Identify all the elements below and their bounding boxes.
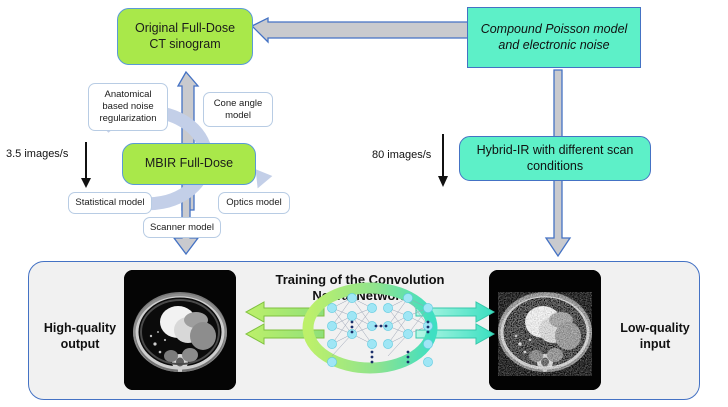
high-quality-output-label: High-quality output bbox=[30, 320, 130, 353]
label-anatomical-noise-regularization[interactable]: Anatomical based noise regularization bbox=[88, 83, 168, 131]
label-cone-angle-model[interactable]: Cone angle model bbox=[203, 92, 273, 127]
cnn-network bbox=[332, 298, 428, 356]
label-scanner-text: Scanner model bbox=[150, 222, 214, 234]
rate-arrow-hybrid bbox=[438, 134, 448, 187]
node-hybrid-ir-label: Hybrid-IR with different scan conditions bbox=[469, 143, 641, 174]
ct-image-low-quality bbox=[489, 270, 601, 390]
node-mbir-label: MBIR Full-Dose bbox=[145, 156, 233, 171]
rate-label-mbir: 3.5 images/s bbox=[6, 148, 68, 160]
label-anatomical-text: Anatomical based noise regularization bbox=[93, 89, 163, 125]
node-original-sinogram[interactable]: Original Full-Dose CT sinogram bbox=[117, 8, 253, 65]
label-optics-model[interactable]: Optics model bbox=[218, 192, 290, 214]
training-loop-graphic bbox=[240, 268, 500, 394]
rate-arrow-mbir bbox=[81, 142, 91, 188]
rate-label-hybrid: 80 images/s bbox=[372, 149, 431, 161]
label-cone-angle-text: Cone angle model bbox=[208, 98, 268, 122]
label-scanner-model[interactable]: Scanner model bbox=[143, 217, 221, 238]
node-mbir-full-dose[interactable]: MBIR Full-Dose bbox=[122, 143, 256, 185]
label-statistical-model[interactable]: Statistical model bbox=[68, 192, 152, 214]
connector-poisson-to-sinogram bbox=[252, 18, 468, 42]
low-quality-input-label: Low-quality input bbox=[605, 320, 705, 353]
diagram-canvas: Original Full-Dose CT sinogram Compound … bbox=[0, 0, 728, 407]
node-hybrid-ir[interactable]: Hybrid-IR with different scan conditions bbox=[459, 136, 651, 181]
high-quality-line2: output bbox=[30, 336, 130, 352]
low-quality-line2: input bbox=[605, 336, 705, 352]
node-compound-poisson-label: Compound Poisson model and electronic no… bbox=[477, 22, 631, 53]
ct-image-high-quality bbox=[124, 270, 236, 390]
node-compound-poisson[interactable]: Compound Poisson model and electronic no… bbox=[467, 7, 641, 68]
label-statistical-text: Statistical model bbox=[75, 197, 144, 209]
low-quality-line1: Low-quality bbox=[605, 320, 705, 336]
label-optics-text: Optics model bbox=[226, 197, 281, 209]
high-quality-line1: High-quality bbox=[30, 320, 130, 336]
node-original-sinogram-label: Original Full-Dose CT sinogram bbox=[126, 21, 244, 52]
